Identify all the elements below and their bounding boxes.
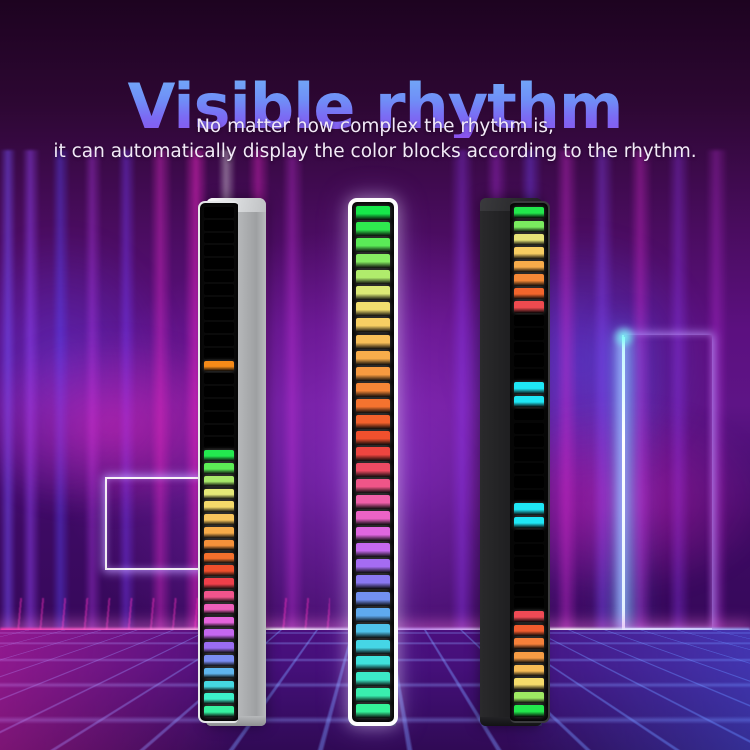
floor-glow-magenta xyxy=(0,630,330,750)
led-segment-lit xyxy=(356,608,390,622)
led-segment-lit xyxy=(514,247,544,258)
led-segment-off xyxy=(514,584,544,595)
led-segment-off xyxy=(204,220,234,231)
led-segment-lit xyxy=(204,514,234,525)
led-segment-lit xyxy=(356,543,390,557)
led-segment-lit xyxy=(356,367,390,381)
led-segment-lit xyxy=(204,565,234,576)
led-segment-lit xyxy=(356,431,390,445)
led-segment-lit xyxy=(514,234,544,245)
led-segment-lit xyxy=(514,517,544,528)
led-segment-off xyxy=(514,409,544,420)
led-segment-lit xyxy=(514,274,544,285)
led-segment-strip xyxy=(352,202,394,722)
led-segment-off xyxy=(514,315,544,326)
led-segment-lit xyxy=(356,399,390,413)
led-segment-lit xyxy=(204,642,234,653)
led-segment-lit xyxy=(204,681,234,692)
led-segment-lit xyxy=(514,611,544,622)
led-segment-lit xyxy=(356,206,390,220)
led-segment-lit xyxy=(514,207,544,218)
led-segment-lit xyxy=(356,415,390,429)
led-segment-lit xyxy=(514,396,544,407)
led-segment-off xyxy=(514,557,544,568)
subtitle-line-1: No matter how complex the rhythm is, xyxy=(0,114,750,139)
neon-vertical-line-right xyxy=(622,337,625,632)
led-segment-off xyxy=(204,297,234,308)
led-segment-off xyxy=(204,386,234,397)
led-segment-off xyxy=(514,544,544,555)
led-segment-lit xyxy=(514,503,544,514)
led-segment-lit xyxy=(514,301,544,312)
neon-rectangle-outline-right xyxy=(622,335,712,630)
led-segment-off xyxy=(204,399,234,410)
led-segment-lit xyxy=(204,540,234,551)
led-segment-off xyxy=(204,309,234,320)
device-rgb-light-bar-silver[interactable] xyxy=(198,198,266,726)
led-segment-off xyxy=(514,476,544,487)
led-segment-lit xyxy=(356,575,390,589)
led-segment-off xyxy=(204,271,234,282)
led-segment-off xyxy=(204,284,234,295)
led-segment-lit xyxy=(356,672,390,686)
led-segment-lit xyxy=(204,463,234,474)
led-segment-lit xyxy=(204,706,234,717)
led-segment-off xyxy=(514,369,544,380)
led-segment-lit xyxy=(356,335,390,349)
led-segment-lit xyxy=(204,501,234,512)
led-screen-silver xyxy=(198,201,238,723)
led-segment-off xyxy=(514,463,544,474)
led-segment-lit xyxy=(204,668,234,679)
led-segment-off xyxy=(204,322,234,333)
led-segment-lit xyxy=(356,463,390,477)
product-promo-image: Visible rhythm No matter how complex the… xyxy=(0,0,750,750)
device-rgb-light-bar-black[interactable] xyxy=(480,198,550,726)
led-segment-lit xyxy=(356,447,390,461)
floor-glow-blue xyxy=(420,630,750,750)
led-segment-lit xyxy=(356,286,390,300)
led-segment-lit xyxy=(514,705,544,716)
led-segment-off xyxy=(204,335,234,346)
led-segment-off xyxy=(514,436,544,447)
led-segment-lit xyxy=(514,665,544,676)
led-segment-strip xyxy=(200,203,238,721)
led-segment-lit xyxy=(356,383,390,397)
led-segment-strip xyxy=(510,203,548,721)
led-segment-lit xyxy=(514,692,544,703)
led-segment-lit xyxy=(514,678,544,689)
led-segment-lit xyxy=(204,578,234,589)
led-segment-lit xyxy=(356,222,390,236)
device-rgb-light-bar-white[interactable] xyxy=(348,198,398,726)
led-segment-lit xyxy=(356,238,390,252)
led-segment-lit xyxy=(356,495,390,509)
led-screen-white xyxy=(348,198,398,726)
led-segment-lit xyxy=(514,382,544,393)
led-segment-off xyxy=(204,258,234,269)
led-segment-off xyxy=(514,490,544,501)
led-segment-lit xyxy=(204,617,234,628)
led-segment-lit xyxy=(204,629,234,640)
led-screen-black xyxy=(510,201,550,723)
led-segment-off xyxy=(204,373,234,384)
led-segment-off xyxy=(204,245,234,256)
led-segment-lit xyxy=(514,288,544,299)
led-segment-lit xyxy=(204,361,234,372)
led-segment-off xyxy=(204,425,234,436)
led-segment-lit xyxy=(204,527,234,538)
led-segment-lit xyxy=(204,655,234,666)
led-segment-off xyxy=(514,342,544,353)
led-segment-lit xyxy=(514,261,544,272)
led-segment-lit xyxy=(356,656,390,670)
led-segment-lit xyxy=(356,688,390,702)
led-segment-lit xyxy=(356,592,390,606)
led-segment-lit xyxy=(204,693,234,704)
led-segment-lit xyxy=(356,318,390,332)
page-subtitle: No matter how complex the rhythm is, it … xyxy=(0,114,750,164)
led-segment-lit xyxy=(356,559,390,573)
led-segment-lit xyxy=(356,704,390,718)
led-segment-lit xyxy=(356,479,390,493)
led-segment-lit xyxy=(356,302,390,316)
neon-line-glow-cap-icon xyxy=(612,325,636,349)
led-segment-lit xyxy=(514,652,544,663)
led-segment-lit xyxy=(356,270,390,284)
led-segment-off xyxy=(514,530,544,541)
led-segment-lit xyxy=(204,604,234,615)
led-segment-lit xyxy=(356,527,390,541)
led-segment-lit xyxy=(204,591,234,602)
led-segment-lit xyxy=(356,624,390,638)
led-segment-off xyxy=(204,437,234,448)
led-segment-off xyxy=(204,207,234,218)
led-segment-off xyxy=(514,598,544,609)
led-segment-off xyxy=(514,328,544,339)
led-segment-lit xyxy=(356,254,390,268)
led-segment-lit xyxy=(204,476,234,487)
led-segment-lit xyxy=(514,625,544,636)
led-segment-lit xyxy=(356,351,390,365)
led-segment-off xyxy=(514,449,544,460)
led-segment-off xyxy=(204,412,234,423)
led-segment-lit xyxy=(204,489,234,500)
led-segment-lit xyxy=(204,553,234,564)
led-segment-lit xyxy=(514,638,544,649)
led-segment-lit xyxy=(204,450,234,461)
led-segment-lit xyxy=(356,511,390,525)
led-segment-off xyxy=(204,233,234,244)
led-segment-off xyxy=(514,571,544,582)
subtitle-line-2: it can automatically display the color b… xyxy=(0,139,750,164)
led-segment-off xyxy=(514,355,544,366)
led-segment-lit xyxy=(356,640,390,654)
led-segment-off xyxy=(514,423,544,434)
led-segment-lit xyxy=(514,221,544,232)
led-segment-off xyxy=(204,348,234,359)
